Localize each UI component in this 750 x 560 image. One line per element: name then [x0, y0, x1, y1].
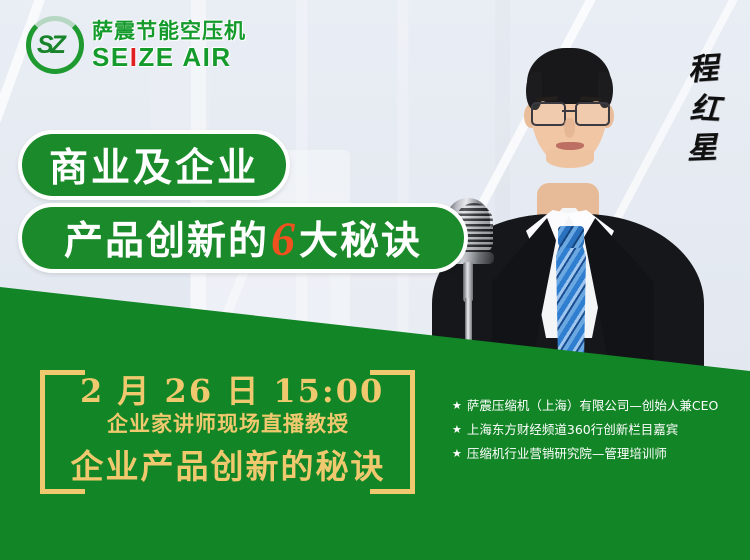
logo-english-name: SEIZE AIR: [92, 43, 246, 72]
event-topic: 企业产品创新的秘诀: [68, 440, 388, 488]
headline-pill-line1: 商业及企业: [18, 130, 290, 200]
headline-line2-pre: 产品创新的: [64, 210, 269, 266]
star-icon: ★: [452, 394, 462, 418]
photo-chin: [546, 150, 594, 168]
promo-poster: SZ 萨震节能空压机 SEIZE AIR 商业及企业 产品创新的6大秘诀 程 红…: [0, 0, 750, 560]
credentials-list: ★ 萨震压缩机（上海）有限公司—创始人兼CEO ★ 上海东方财经频道360行创新…: [452, 394, 742, 466]
speaker-name-char-3: 星: [678, 128, 725, 169]
list-item: ★ 上海东方财经频道360行创新栏目嘉宾: [452, 418, 742, 442]
speaker-name-calligraphy: 程 红 星: [680, 50, 726, 169]
star-icon: ★: [452, 442, 462, 466]
glasses-bridge: [562, 110, 575, 112]
headline-pill-line2: 产品创新的6大秘诀: [18, 203, 468, 273]
logo-mark-icon: SZ: [26, 16, 84, 74]
photo-mouth: [556, 142, 584, 150]
glasses-lens-left: [531, 102, 566, 126]
credential-text: 萨震压缩机（上海）有限公司—创始人兼CEO: [467, 394, 718, 418]
microphone-stem: [463, 262, 473, 302]
star-icon: ★: [452, 418, 462, 442]
event-subtitle: 企业家讲师现场直播教授: [80, 408, 376, 438]
speaker-photo: [430, 18, 710, 378]
speaker-name-char-2: 红: [681, 89, 729, 131]
photo-nose: [564, 118, 575, 138]
event-details-block: 2 月 26 日 15:00 企业家讲师现场直播教授 企业产品创新的秘诀: [40, 362, 440, 492]
logo-wordmark: 萨震节能空压机 SEIZE AIR: [92, 19, 246, 72]
credential-text: 上海东方财经频道360行创新栏目嘉宾: [467, 418, 678, 442]
glasses-lens-right: [575, 102, 610, 126]
headline-line2-post: 大秘诀: [299, 210, 422, 266]
logo-monogram: SZ: [37, 31, 73, 59]
headline-number-6: 6: [269, 216, 299, 264]
event-datetime: 2 月 26 日 15:00: [80, 366, 376, 412]
logo-en-post: ZE AIR: [138, 42, 231, 72]
logo-en-pre: SE: [92, 42, 130, 72]
list-item: ★ 压缩机行业营销研究院—管理培训师: [452, 442, 742, 466]
brand-logo: SZ 萨震节能空压机 SEIZE AIR: [26, 16, 246, 74]
credential-text: 压缩机行业营销研究院—管理培训师: [467, 442, 667, 466]
photo-necktie-knot: [558, 226, 584, 248]
headline-line1-text: 商业及企业: [49, 137, 259, 193]
logo-chinese-name: 萨震节能空压机: [92, 19, 246, 43]
speaker-name-char-1: 程: [679, 48, 728, 91]
list-item: ★ 萨震压缩机（上海）有限公司—创始人兼CEO: [452, 394, 742, 418]
